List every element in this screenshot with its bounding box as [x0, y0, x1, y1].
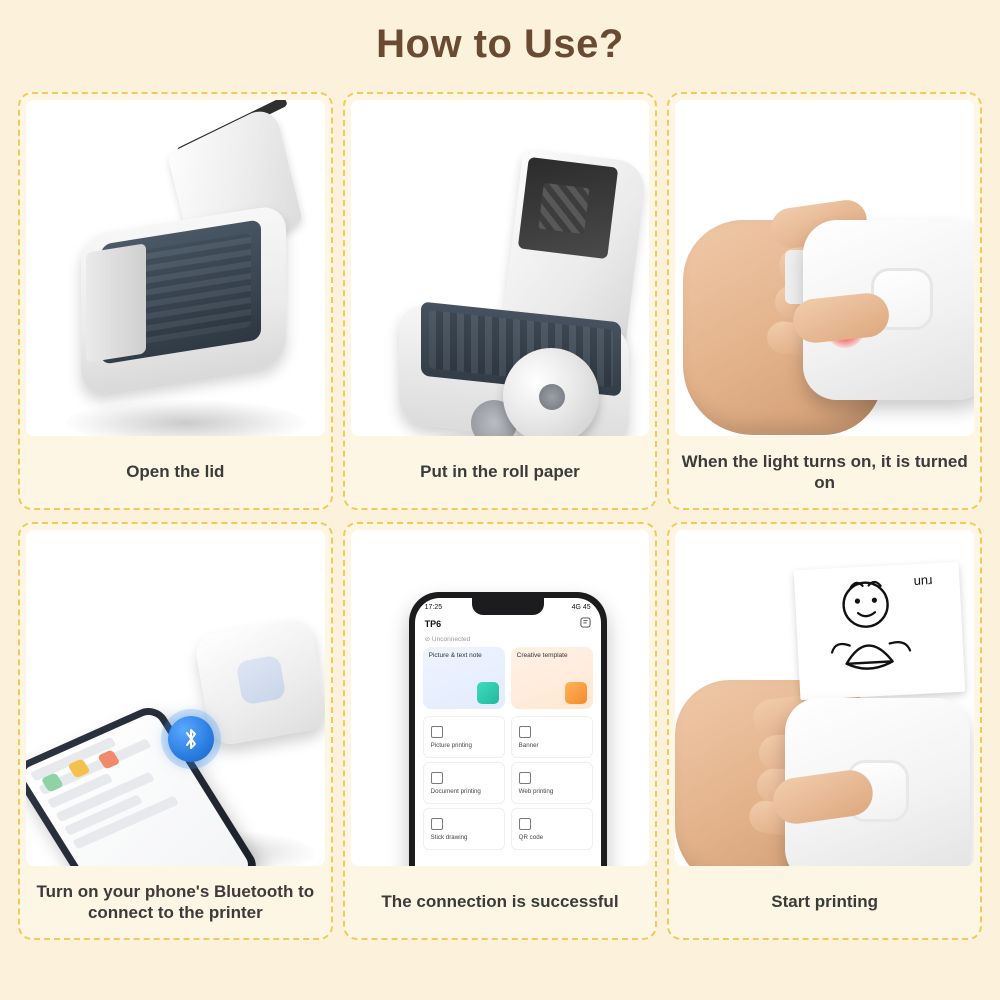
step-card-3: A hand holding the square white printer,… — [667, 92, 982, 510]
bluetooth-icon — [168, 716, 214, 762]
app-bar: TP6 — [415, 613, 601, 635]
menu-item-label: Picture printing — [431, 742, 504, 749]
how-to-use-infographic: How to Use? Mini thermal printer with th… — [0, 0, 1000, 1000]
step-4-image: Smartphone and printer with a blue Bluet… — [26, 530, 325, 866]
step-4-image-alt: Smartphone and printer with a blue Bluet… — [26, 530, 27, 531]
menu-item-banner[interactable]: Banner — [511, 716, 593, 758]
step-5-image: 17:25 4G 45 TP6 — [351, 530, 650, 866]
doodle-drawing: run — [794, 562, 966, 700]
step-card-4: Smartphone and printer with a blue Bluet… — [18, 522, 333, 940]
smartphone: 17:25 4G 45 TP6 — [409, 592, 607, 866]
feature-card-label: Creative template — [517, 652, 568, 659]
printed-note-text: run — [914, 574, 934, 590]
step-2-image-alt: Printer lid open with a white thermal pa… — [351, 100, 352, 101]
step-3-caption: When the light turns on, it is turned on — [669, 436, 980, 508]
qr-code-icon — [519, 818, 531, 830]
status-indicators: 4G 45 — [572, 604, 591, 611]
menu-item-label: Document printing — [431, 788, 504, 795]
menu-item-label: Banner — [519, 742, 592, 749]
step-1-image-alt: Mini thermal printer with the top lid op… — [26, 100, 27, 101]
stick-drawing-icon — [431, 818, 443, 830]
print-head — [517, 157, 618, 259]
feature-card-picture-note[interactable]: Picture & text note — [423, 647, 505, 709]
step-3-image-alt: A hand holding the square white printer,… — [675, 100, 676, 101]
connection-status: ⊘ Unconnected — [415, 635, 601, 647]
menu-item-label: Stick drawing — [431, 834, 504, 841]
banner-icon — [519, 726, 531, 738]
history-icon[interactable] — [580, 615, 591, 633]
step-card-1: Mini thermal printer with the top lid op… — [18, 92, 333, 510]
picture-note-icon — [477, 682, 499, 704]
paper-roll-core — [539, 384, 565, 410]
step-card-5: 17:25 4G 45 TP6 — [343, 522, 658, 940]
step-card-6: run Hand holding the printer while a sti… — [667, 522, 982, 940]
step-1-image: Mini thermal printer with the top lid op… — [26, 100, 325, 436]
menu-grid: Picture printing Banner Document printin… — [415, 709, 601, 850]
status-time: 17:25 — [425, 604, 443, 611]
picture-printing-icon — [431, 726, 443, 738]
step-6-caption: Start printing — [669, 866, 980, 938]
network-label: 4G — [572, 604, 581, 611]
history-glyph — [580, 617, 591, 628]
document-printing-icon — [431, 772, 443, 784]
step-3-image: A hand holding the square white printer,… — [675, 100, 974, 436]
drop-shadow — [66, 400, 306, 436]
web-printing-icon — [519, 772, 531, 784]
menu-item-label: Web printing — [519, 788, 592, 795]
feature-card-creative-template[interactable]: Creative template — [511, 647, 593, 709]
menu-item-qr-code[interactable]: QR code — [511, 808, 593, 850]
step-card-2: Printer lid open with a white thermal pa… — [343, 92, 658, 510]
step-2-caption: Put in the roll paper — [345, 436, 656, 508]
app-name: TP6 — [425, 619, 442, 629]
steps-grid: Mini thermal printer with the top lid op… — [18, 92, 982, 940]
printer-window — [236, 655, 287, 706]
step-6-image-alt: Hand holding the printer while a sticker… — [675, 530, 676, 531]
feature-card-label: Picture & text note — [429, 652, 482, 659]
paper-roller — [86, 243, 146, 363]
phone-screen: 17:25 4G 45 TP6 — [415, 598, 601, 866]
menu-item-stick-drawing[interactable]: Stick drawing — [423, 808, 505, 850]
step-5-image-alt: Smartphone showing the printer app home … — [351, 530, 352, 531]
phone-notch — [472, 598, 544, 615]
printed-sticker: run — [794, 562, 966, 700]
template-icon — [565, 682, 587, 704]
step-6-image: run Hand holding the printer while a sti… — [675, 530, 974, 866]
bluetooth-glyph — [181, 726, 201, 752]
menu-item-label: QR code — [519, 834, 592, 841]
menu-item-web-printing[interactable]: Web printing — [511, 762, 593, 804]
menu-item-document-printing[interactable]: Document printing — [423, 762, 505, 804]
battery-level: 45 — [583, 604, 591, 611]
page-title: How to Use? — [0, 0, 1000, 67]
step-1-caption: Open the lid — [20, 436, 331, 508]
connection-status-text: Unconnected — [432, 636, 470, 643]
menu-item-picture-printing[interactable]: Picture printing — [423, 716, 505, 758]
feature-cards: Picture & text note Creative template — [415, 647, 601, 709]
step-5-caption: The connection is successful — [345, 866, 656, 938]
step-4-caption: Turn on your phone's Bluetooth to connec… — [20, 866, 331, 938]
step-2-image: Printer lid open with a white thermal pa… — [351, 100, 650, 436]
